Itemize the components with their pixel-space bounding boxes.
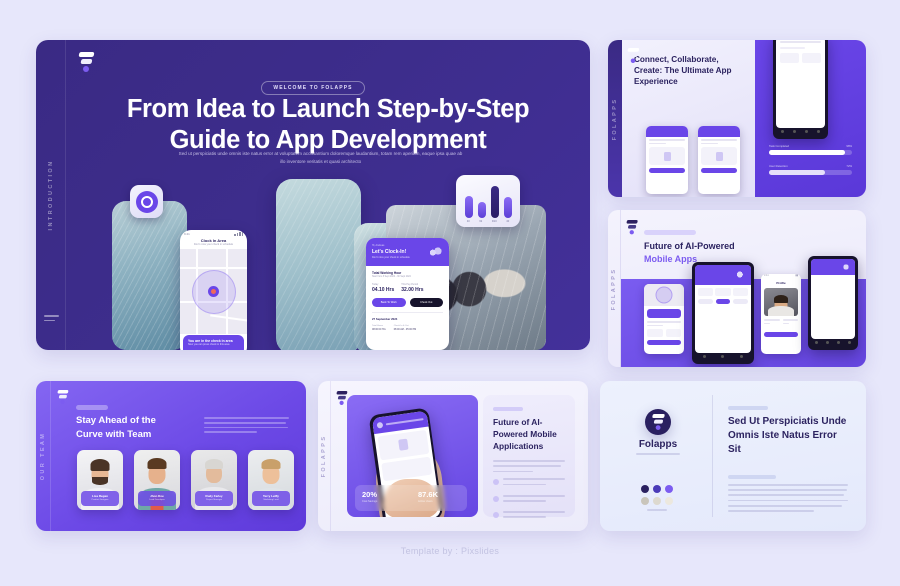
c5-title-line3: Applications <box>493 441 543 451</box>
folapps-logo-icon <box>651 414 665 430</box>
c5-side-label: FOLAPPS <box>321 435 327 478</box>
c2-phone-1 <box>646 126 688 194</box>
team-slide[interactable]: OUR TEAM Stay Ahead of the Curve with Te… <box>36 381 306 531</box>
map-footer-sub: Now you can press check in this area <box>188 343 239 347</box>
bar-label-0: 40 <box>467 220 470 223</box>
stat-item: 20% Cost Savings <box>355 485 411 511</box>
hours-today-label: Today <box>372 283 394 286</box>
hero-artwork: 9:41 Clock In Area Don't miss your check… <box>66 175 590 350</box>
member-nameplate: Terry Leifly Marketing Lead <box>252 491 290 506</box>
c5-bullet <box>493 478 565 488</box>
bullet-dot-icon <box>493 496 499 502</box>
hero-welcome-badge: WELCOME TO FOLAPPS <box>261 81 364 95</box>
check-out-button[interactable]: Check Out <box>410 298 444 307</box>
hours-today: Today 04.10 Hrs <box>372 283 394 293</box>
brand-slide[interactable]: Folapps Sed Ut Perspiciatis Unde Omnis I… <box>600 381 866 531</box>
c2-progress-2: User Retention 72% <box>769 164 852 175</box>
bar-label-1: 62 <box>479 220 482 223</box>
c3-title-line2: Mobile Apps <box>644 254 697 264</box>
hero-badge-row: WELCOME TO FOLAPPS <box>36 76 590 95</box>
map-status-time: 9:41 <box>184 232 190 236</box>
folapps-circle-logo <box>645 409 671 435</box>
c5-title-line1: Future of AI- <box>493 417 542 427</box>
bar-label-3: 40 <box>506 220 509 223</box>
clock-in-card: Hi, Andreas Let's Clock-In! Don't miss y… <box>366 238 449 350</box>
c6-brand-sub <box>620 453 696 455</box>
c5-title-line2: Powered Mobile <box>493 429 557 439</box>
clock-card-buttons: Back To Work Check Out <box>372 298 443 307</box>
hero-title-line1: From Idea to Launch Step-by-Step <box>127 95 529 123</box>
folapps-logo-icon <box>78 52 95 72</box>
slide-gallery: INTRODUCTION WELCOME TO FOLAPPS From Ide… <box>0 0 900 586</box>
hours-period: This Pay Period 32.00 Hrs <box>401 283 423 293</box>
c2-progress-1-label: Task Completed <box>769 144 789 148</box>
c2-side-rail: FOLAPPS <box>608 40 622 197</box>
bar-chart-labels: 40 62 R10 40 <box>462 218 514 223</box>
location-pin-icon <box>208 286 219 297</box>
c6-divider <box>712 395 713 517</box>
c3-side-label: FOLAPPS <box>611 267 617 310</box>
hero-slide[interactable]: INTRODUCTION WELCOME TO FOLAPPS From Ide… <box>36 40 590 350</box>
c3-title-line1: Future of AI-Powered <box>644 241 735 251</box>
c6-color-palette <box>641 485 673 511</box>
map-canvas <box>180 249 247 334</box>
member-name: Rudy Farley <box>197 494 231 498</box>
member-nameplate: Lisa Regan Product Designer <box>81 491 119 506</box>
back-to-work-button[interactable]: Back To Work <box>372 298 406 307</box>
folapps-logo-icon <box>57 390 69 404</box>
c3-side-rail: FOLAPPS <box>608 210 621 367</box>
hero-title: From Idea to Launch Step-by-Step Guide t… <box>96 94 560 156</box>
c6-eyebrow <box>728 406 768 410</box>
c5-bullet <box>493 511 565 521</box>
c5-text-pane: Future of AI- Powered Mobile Application… <box>483 395 575 517</box>
folapps-logo-icon <box>627 48 640 63</box>
team-member-card[interactable]: Rudy Farley Project Manager <box>191 450 237 510</box>
stat-label: Cost Savings <box>362 500 411 503</box>
bullet-dot-icon <box>493 479 499 485</box>
bar-chart-card: 40 62 R10 40 <box>456 175 520 227</box>
working-hour-sub: Start from 8 Sept 2024 - 30 Sept 2024 <box>372 276 443 278</box>
c2-progress-2-label: User Retention <box>769 164 788 168</box>
member-name: Lisa Regan <box>83 494 117 498</box>
map-header-sub: Don't miss your check in schedule <box>180 243 247 246</box>
future-ai-slide[interactable]: FOLAPPS Future of AI-Powered Mobile Apps <box>608 210 866 367</box>
c2-progress-1: Task Completed 98% <box>769 144 852 155</box>
c4-title-line2: Curve with Team <box>76 429 151 440</box>
clock-card-details: Total Hours 08:00:00 Hrs Check In & Out … <box>372 325 443 331</box>
clock-card-date: 27 September 2024 <box>372 317 443 321</box>
folapps-logo-icon <box>626 220 638 234</box>
member-role: Marketing Lead <box>254 499 288 501</box>
detail-total-hours: Total Hours 08:00:00 Hrs <box>372 325 386 331</box>
c3-eyebrow <box>644 230 696 235</box>
c4-side-rail: OUR TEAM <box>36 381 51 531</box>
clock-in-map-phone: 9:41 Clock In Area Don't miss your check… <box>180 230 247 350</box>
member-nameplate: Rudy Farley Project Manager <box>195 491 233 506</box>
c5-stats-box: 20% Cost Savings 87.6K Active Users <box>355 485 467 511</box>
member-name: Terry Leifly <box>254 494 288 498</box>
c3-map-screen <box>644 284 684 354</box>
bar-label-2: R10 <box>492 220 497 223</box>
c6-brand-name: Folapps <box>620 439 696 450</box>
center-glass-phone <box>276 179 361 350</box>
clock-card-body: Total Working Hour Start from 8 Sept 202… <box>366 266 449 336</box>
c2-progress-2-value: 72% <box>846 164 852 168</box>
c4-side-label: OUR TEAM <box>40 432 46 481</box>
c5-title: Future of AI- Powered Mobile Application… <box>493 417 565 452</box>
c2-phone-2 <box>698 126 740 194</box>
c6-title: Sed Ut Perspiciatis Unde Omnis Iste Natu… <box>728 415 850 458</box>
footer-credit: Template by : Pixslides <box>0 546 900 556</box>
c3-android-summary <box>808 256 858 350</box>
map-header: Clock In Area Don't miss your check in s… <box>180 237 247 246</box>
c2-title: Connect, Collaborate, Create: The Ultima… <box>634 54 745 87</box>
member-role: Lead Developer <box>140 499 174 501</box>
bird-illustration-icon <box>428 246 444 258</box>
c3-profile-screen: 9:41▮▮ Profile <box>761 274 801 354</box>
hours-columns: Today 04.10 Hrs This Pay Period 32.00 Hr… <box>372 283 443 293</box>
c6-title-line1: Sed Ut Perspiciatis Unde <box>728 416 846 427</box>
working-hour-title: Total Working Hour <box>372 271 443 275</box>
c5-side-rail: FOLAPPS <box>318 381 331 531</box>
hero-side-label: INTRODUCTION <box>48 160 54 231</box>
folapps-app-icon <box>130 185 163 218</box>
stat-value: 20% <box>362 490 411 499</box>
hours-today-value: 04.10 Hrs <box>372 287 394 293</box>
hero-subtitle: Sed ut perspiciatis unde omnis iste natu… <box>176 150 465 167</box>
member-nameplate: Jhon Doe Lead Developer <box>138 491 176 506</box>
c6-lorem-body <box>728 484 848 515</box>
member-role: Product Designer <box>83 499 117 501</box>
team-member-card[interactable]: Jhon Doe Lead Developer <box>134 450 180 510</box>
c5-bullet <box>493 495 565 505</box>
stat-value: 87.6K <box>418 490 467 499</box>
hours-period-label: This Pay Period <box>401 283 423 286</box>
clock-card-header: Hi, Andreas Let's Clock-In! Don't miss y… <box>366 238 449 266</box>
c3-profile-photo <box>764 288 798 316</box>
c6-lorem-heading <box>728 475 776 479</box>
bullet-dot-icon <box>493 512 499 518</box>
hero-logo <box>78 52 95 72</box>
team-member-card[interactable]: Terry Leifly Marketing Lead <box>248 450 294 510</box>
c2-logo <box>627 48 644 68</box>
c3-expense-phone <box>692 262 754 364</box>
c3-logo <box>626 220 643 240</box>
c2-progress-1-value: 98% <box>846 144 852 148</box>
member-role: Project Manager <box>197 499 231 501</box>
c4-title-line1: Stay Ahead of the <box>76 415 156 426</box>
rail-dashes <box>44 315 59 324</box>
geofence-circle <box>192 270 236 314</box>
connect-collaborate-slide[interactable]: FOLAPPS Connect, Collaborate, Create: Th… <box>608 40 866 197</box>
c4-logo <box>57 390 74 410</box>
c4-paragraph <box>204 417 289 436</box>
c2-android-device <box>773 40 828 139</box>
team-member-card[interactable]: Lisa Regan Product Designer <box>77 450 123 510</box>
c4-title: Stay Ahead of the Curve with Team <box>76 414 156 442</box>
c5-eyebrow <box>493 407 523 411</box>
hero-subtitle-line1: Sed ut perspiciatis unde omnis iste natu… <box>179 151 380 156</box>
c5-phone-pane: 20% Cost Savings 87.6K Active Users <box>347 395 478 517</box>
c6-title-line2: Omnis Iste Natus Error Sit <box>728 430 837 455</box>
stats-slide[interactable]: FOLAPPS <box>318 381 588 531</box>
c5-paragraph <box>493 460 565 472</box>
member-name: Jhon Doe <box>140 494 174 498</box>
hours-period-value: 32.00 Hrs <box>401 287 423 293</box>
c4-eyebrow <box>76 405 108 410</box>
glass-building-left <box>112 201 187 350</box>
map-footer-banner: You are in the check in area Now you can… <box>183 335 244 350</box>
detail-check-in-out: Check In & Out 08:00 AM - 05:00 PM <box>394 325 416 331</box>
c2-side-label: FOLAPPS <box>612 97 618 140</box>
stat-item: 87.6K Active Users <box>411 485 467 511</box>
stat-label: Active Users <box>418 500 467 503</box>
c2-right-pane: Task Completed 98% User Retention 72% <box>755 40 866 197</box>
bar-chart-bars <box>462 182 514 218</box>
